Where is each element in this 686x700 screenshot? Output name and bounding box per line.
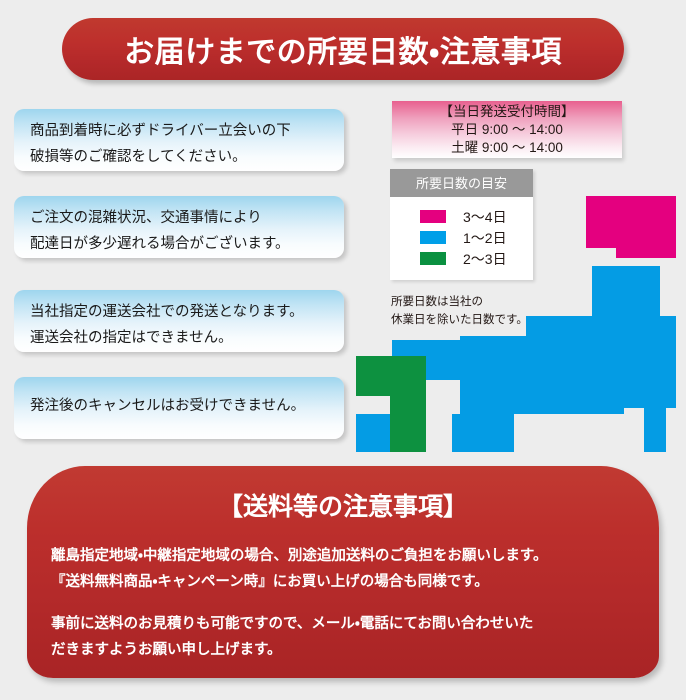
note-line: ご注文の混雑状況、交通事情により xyxy=(30,205,330,231)
legend-footnote-line: 所要日数は当社の xyxy=(391,293,528,311)
note-box-no-cancel: 発注後のキャンセルはお受けできません。 xyxy=(14,377,344,439)
hours-saturday: 土曜 9:00 ～ 14:00 xyxy=(392,139,622,157)
hours-title: 【当日発送受付時間】 xyxy=(392,103,622,121)
shipping-fee-notice-panel: 【送料等の注意事項】 離島指定地域・中継指定地域の場合、別途追加送料のご負担をお… xyxy=(27,466,659,678)
footer-line: 事前に送料のお見積りも可能ですので、メール・電話にてお問い合わせいた xyxy=(51,611,659,637)
footer-line: だきますようお願い申し上げます。 xyxy=(51,637,659,663)
shipping-fee-notice-title: 【送料等の注意事項】 xyxy=(27,487,659,523)
map-region-honshu-south-wide xyxy=(460,376,624,414)
note-box-driver-inspection: 商品到着時に必ずドライバー立会いの下 破損等のご確認をしてください。 xyxy=(14,109,344,171)
same-day-shipping-hours-box: 【当日発送受付時間】 平日 9:00 ～ 14:00 土曜 9:00 ～ 14:… xyxy=(392,101,622,158)
paragraph-spacer xyxy=(51,595,659,611)
map-region-honshu-south-right xyxy=(624,376,676,408)
note-line: 運送会社の指定はできません。 xyxy=(30,325,330,351)
map-region-chubu-block xyxy=(460,336,592,378)
legend-footnote-line: 休業日を除いた日数です。 xyxy=(391,311,528,329)
note-box-delivery-delay: ご注文の混雑状況、交通事情により 配達日が多少遅れる場合がございます。 xyxy=(14,196,344,258)
note-line: 配達日が多少遅れる場合がございます。 xyxy=(30,231,330,257)
note-line: 発注後のキャンセルはお受けできません。 xyxy=(30,393,330,419)
footer-line: 『送料無料商品・キャンペーン時』にお買い上げの場合も同様です。 xyxy=(51,569,659,595)
map-region-kyushu-lower xyxy=(390,356,426,452)
page-title: お届けまでの所要日数・注意事項 xyxy=(124,27,562,71)
note-line: 破損等のご確認をしてください。 xyxy=(30,144,330,170)
note-line: 当社指定の運送会社での発送となります。 xyxy=(30,299,330,325)
legend-footnote: 所要日数は当社の 休業日を除いた日数です。 xyxy=(391,293,528,329)
shipping-fee-notice-body: 離島指定地域・中継指定地域の場合、別途追加送料のご負担をお願いします。 『送料無… xyxy=(27,543,659,663)
page-title-banner: お届けまでの所要日数・注意事項 xyxy=(62,18,624,80)
map-region-boso-tab xyxy=(644,408,666,452)
footer-line: 離島指定地域・中継指定地域の場合、別途追加送料のご負担をお願いします。 xyxy=(51,543,659,569)
map-region-tohoku-upper xyxy=(592,266,660,316)
map-region-shikoku-block xyxy=(452,414,514,452)
map-region-hokkaido-lower xyxy=(616,248,676,258)
hours-weekday: 平日 9:00 ～ 14:00 xyxy=(392,121,622,139)
map-region-hokkaido-main xyxy=(586,196,676,248)
note-box-carrier-designation: 当社指定の運送会社での発送となります。 運送会社の指定はできません。 xyxy=(14,290,344,352)
map-region-tohoku-lower xyxy=(592,316,676,376)
note-line: 商品到着時に必ずドライバー立会いの下 xyxy=(30,118,330,144)
